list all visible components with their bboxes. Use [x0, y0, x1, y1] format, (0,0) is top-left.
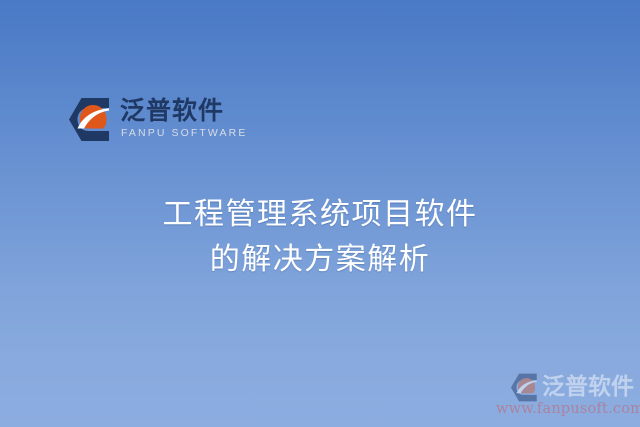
headline-line-1: 工程管理系统项目软件	[0, 192, 640, 237]
brand-name-en: FANPU SOFTWARE	[121, 127, 247, 140]
slide-canvas: 泛普软件 FANPU SOFTWARE 工程管理系统项目软件 的解决方案解析 泛…	[0, 0, 640, 427]
headline-line-2: 的解决方案解析	[0, 237, 640, 282]
headline: 工程管理系统项目软件 的解决方案解析	[0, 192, 640, 282]
watermark-logo-row: 泛普软件	[496, 373, 634, 402]
fanpu-logo-mark-icon	[68, 97, 112, 142]
brand-text-block: 泛普软件 FANPU SOFTWARE	[120, 96, 247, 140]
watermark-url: www.fanpusoft.com	[496, 401, 633, 418]
brand-logo: 泛普软件 FANPU SOFTWARE	[68, 96, 247, 142]
brand-name-cn: 泛普软件	[120, 96, 247, 126]
watermark-name-cn: 泛普软件	[542, 374, 634, 401]
watermark: 泛普软件 www.fanpusoft.com	[496, 373, 634, 418]
watermark-logo-mark-icon	[510, 373, 539, 402]
